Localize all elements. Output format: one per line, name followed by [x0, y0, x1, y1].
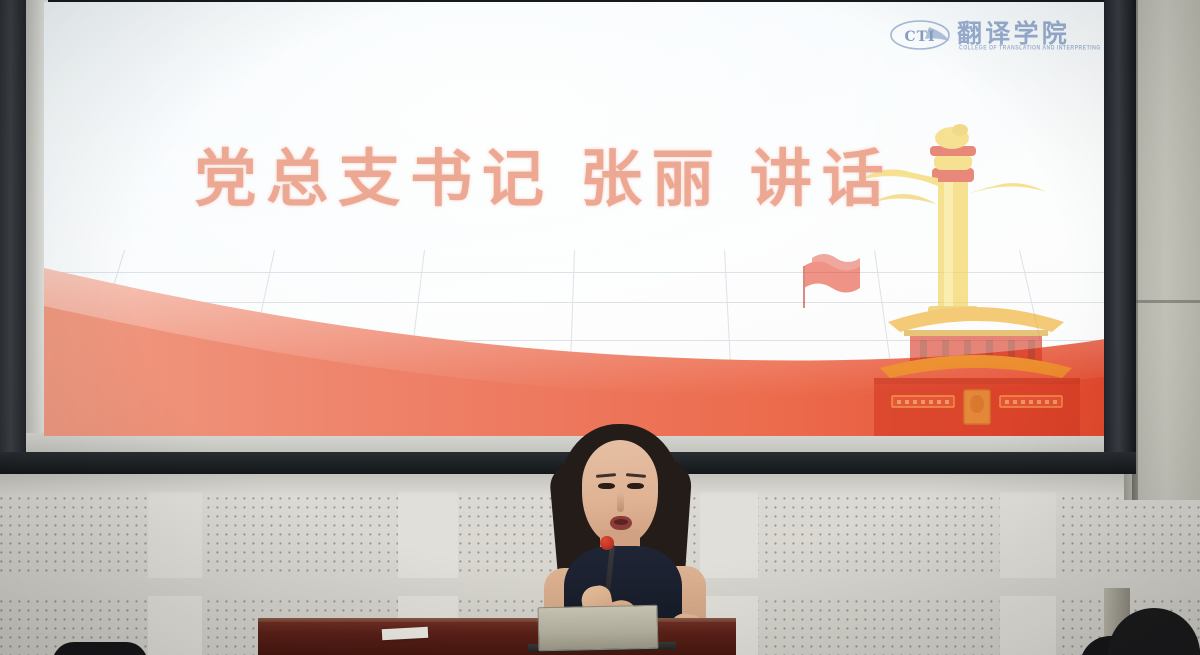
eyebrow-right [626, 473, 646, 478]
title-part-name: 张丽 [580, 142, 724, 215]
college-logo: CTI 翻译学院 COLLEGE OF TRANSLATION AND INTE… [889, 14, 1089, 62]
eye-left [598, 483, 615, 489]
projection-screen-frame: 党总支书记张丽讲话 CTI 翻译学院 COLLEGE OF TRANSLATIO… [0, 0, 1136, 474]
foreground-chair [52, 642, 148, 655]
screen-bezel-left [0, 0, 26, 474]
svg-text:CTI: CTI [904, 29, 935, 45]
eye-right [627, 483, 644, 489]
panel-gap-8 [1000, 596, 1056, 655]
panel-gap-5 [148, 596, 202, 655]
mouth [610, 516, 632, 530]
panel-gap-2 [398, 492, 458, 578]
eyebrow-left [596, 473, 616, 478]
laptop-screen [538, 605, 659, 652]
cti-emblem-icon: CTI [889, 18, 951, 52]
logo-english-name: COLLEGE OF TRANSLATION AND INTERPRETING [959, 45, 1101, 52]
presentation-slide: 党总支书记张丽讲话 CTI 翻译学院 COLLEGE OF TRANSLATIO… [44, 2, 1112, 436]
title-part-role: 党总支书记 [194, 142, 554, 215]
face [582, 440, 658, 544]
panel-gap-4 [1000, 492, 1056, 578]
podium-desk [258, 622, 736, 655]
panel-gap-1 [148, 492, 202, 578]
screen-bezel-right [1104, 0, 1136, 474]
microphone-icon [600, 536, 614, 550]
mouth-interior [614, 519, 628, 525]
nose [617, 492, 624, 512]
slide-title: 党总支书记张丽讲话 [44, 128, 1044, 218]
title-part-verb: 讲话 [750, 142, 894, 215]
lecture-hall-scene: 党总支书记张丽讲话 CTI 翻译学院 COLLEGE OF TRANSLATIO… [0, 0, 1200, 655]
